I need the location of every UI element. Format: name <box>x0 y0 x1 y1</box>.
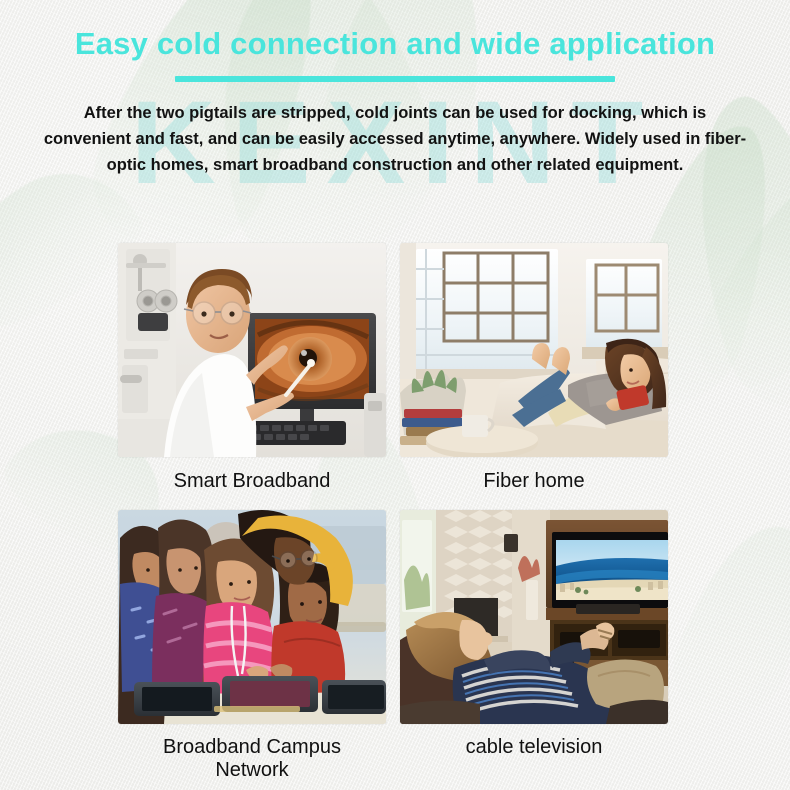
children-tablets-classroom-photo <box>118 510 386 724</box>
gallery-cell-cable-television: cable television <box>400 510 668 782</box>
gallery-caption: Fiber home <box>483 470 584 493</box>
leaf-decoration-icon <box>662 508 790 732</box>
gallery-row: Broadband Campus Network <box>118 510 668 782</box>
page-header: Easy cold connection and wide applicatio… <box>0 26 790 82</box>
optometrist-eye-exam-photo <box>118 243 386 457</box>
title-underline-divider <box>175 76 615 82</box>
gallery-cell-broadband-campus-network: Broadband Campus Network <box>118 510 386 782</box>
woman-on-couch-phone-photo <box>400 243 668 457</box>
woman-watching-tv-photo <box>400 510 668 724</box>
intro-paragraph: After the two pigtails are stripped, col… <box>40 100 750 178</box>
gallery-caption: Broadband Campus Network <box>163 736 341 782</box>
gallery-caption: Smart Broadband <box>174 470 331 493</box>
application-gallery: Smart Broadband <box>118 243 668 783</box>
product-feature-page: KEXINT Easy cold connection and wide app… <box>0 0 790 790</box>
leaf-decoration-icon <box>682 140 790 410</box>
gallery-cell-smart-broadband: Smart Broadband <box>118 243 386 493</box>
page-title: Easy cold connection and wide applicatio… <box>0 26 790 62</box>
gallery-row: Smart Broadband <box>118 243 668 493</box>
gallery-cell-fiber-home: Fiber home <box>400 243 668 493</box>
gallery-caption: cable television <box>466 736 603 759</box>
